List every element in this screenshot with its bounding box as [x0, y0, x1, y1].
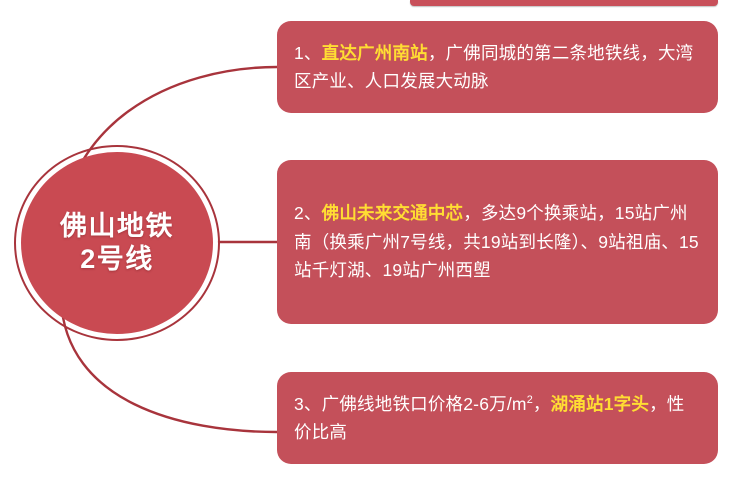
branch-2-highlight: 佛山未来交通中芯	[322, 203, 464, 223]
center-node[interactable]: 佛山地铁 2号线	[14, 145, 220, 341]
center-node-disc: 佛山地铁 2号线	[21, 152, 213, 334]
mindmap-canvas: 佛山地铁 2号线 1、直达广州南站，广佛同城的第二条地铁线，大湾区产业、人口发展…	[0, 0, 740, 483]
center-node-title-line1: 佛山地铁	[60, 210, 174, 243]
branch-card-1[interactable]: 1、直达广州南站，广佛同城的第二条地铁线，大湾区产业、人口发展大动脉	[277, 21, 718, 113]
center-node-title-line2: 2号线	[80, 243, 154, 276]
branch-3-pre: 广佛线地铁口价格2-6万/m	[322, 394, 527, 414]
branch-card-3-text: 3、广佛线地铁口价格2-6万/m2，湖涌站1字头，性价比高	[277, 390, 718, 447]
branch-1-highlight: 直达广州南站	[322, 43, 428, 63]
branch-1-index: 1、	[294, 43, 322, 63]
branch-card-2-text: 2、佛山未来交通中芯，多达9个换乘站，15站广州南（换乘广州7号线，共19站到长…	[277, 199, 718, 284]
branch-3-mid: ，	[533, 394, 551, 414]
branch-3-highlight: 湖涌站1字头	[551, 394, 649, 414]
branch-2-index: 2、	[294, 203, 322, 223]
branch-card-1-text: 1、直达广州南站，广佛同城的第二条地铁线，大湾区产业、人口发展大动脉	[277, 39, 718, 96]
branch-card-3[interactable]: 3、广佛线地铁口价格2-6万/m2，湖涌站1字头，性价比高	[277, 372, 718, 464]
branch-3-index: 3、	[294, 394, 322, 414]
branch-card-2[interactable]: 2、佛山未来交通中芯，多达9个换乘站，15站广州南（换乘广州7号线，共19站到长…	[277, 160, 718, 324]
